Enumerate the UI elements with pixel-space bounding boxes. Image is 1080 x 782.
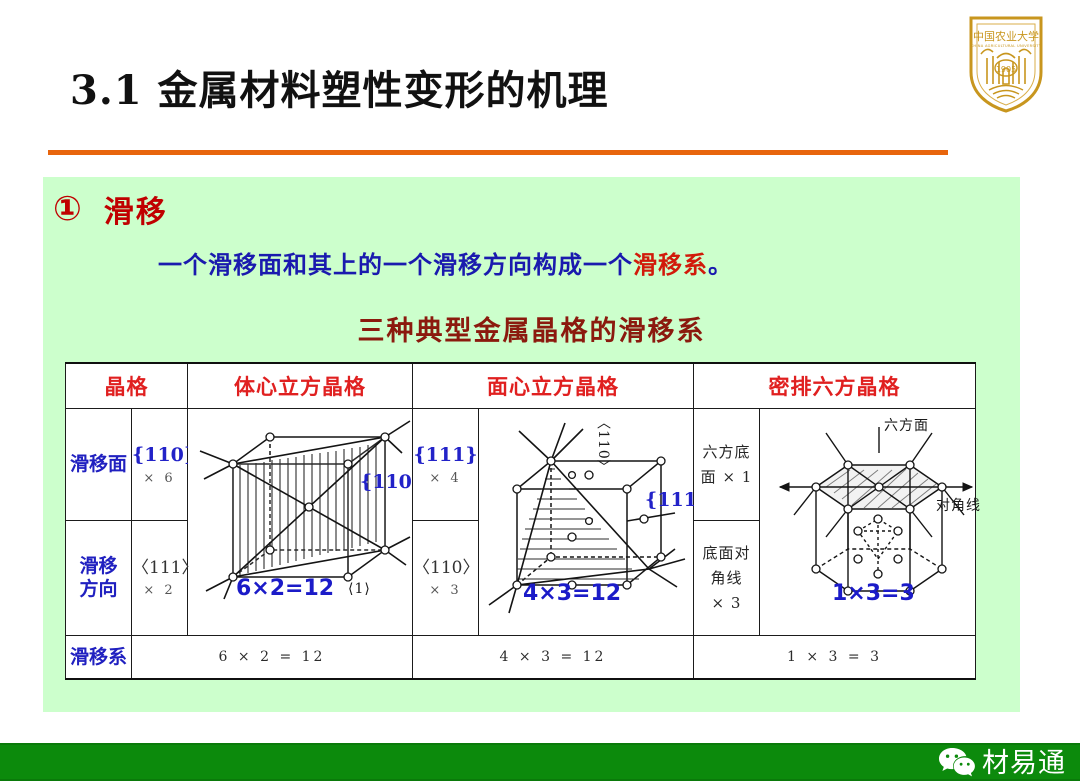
bcc-product: 6×2=12 (236, 576, 334, 601)
fcc-diagram: 〈110〉 {111} 4×3=12 (479, 409, 693, 636)
table-row-slip-plane: 滑移面 {110} × 6 (66, 408, 976, 521)
hcp-summary: 1 × 3 = 3 (694, 636, 976, 679)
svg-text:1905: 1905 (996, 65, 1016, 74)
slide-root: 3.1 金属材料塑性变形的机理 中国农业大学 CHINA AGRICULTURA… (0, 0, 1080, 781)
brand-text: 材易通 (982, 750, 1066, 777)
footer-top-edge (0, 743, 1080, 745)
rowhead-slip-system: 滑移系 (66, 636, 132, 679)
fcc-direction-mult: × 3 (413, 581, 478, 601)
fcc-plane-mult: × 4 (413, 469, 478, 489)
title-divider (48, 150, 948, 155)
table-header-row: 晶格 体心立方晶格 面心立方晶格 密排六方晶格 (66, 363, 976, 408)
wechat-icon (938, 745, 976, 782)
svg-text:CHINA AGRICULTURAL UNIVERSITY: CHINA AGRICULTURAL UNIVERSITY (971, 44, 1042, 48)
fcc-plane-index: {111} (413, 441, 478, 470)
sentence-highlight: 滑移系 (633, 250, 708, 279)
rowhead-slip-plane: 滑移面 (66, 408, 132, 521)
bcc-diagram-cell: {110} 6×2=12 ⟨1⟩ (188, 408, 413, 636)
hcp-plane-line2: 面 × 1 (694, 465, 759, 490)
content-panel: ① 滑移 一个滑移面和其上的一个滑移方向构成一个滑移系。 三种典型金属晶格的滑移… (43, 177, 1020, 712)
hcp-plane-line1: 六方底 (694, 440, 759, 465)
bullet-label: 滑移 (104, 187, 168, 231)
bcc-diagram: {110} 6×2=12 ⟨1⟩ (188, 409, 412, 636)
page-title: 3.1 金属材料塑性变形的机理 (70, 58, 609, 116)
table-row-slip-system: 滑移系 6 × 2 = 12 4 × 3 = 12 1 × 3 = 3 (66, 636, 976, 679)
hcp-direction-label: 对角线 (936, 495, 981, 515)
bcc-plane-index: {110} (132, 441, 187, 470)
hcp-direction-line2: 角线 (694, 566, 759, 591)
sentence-part-1: 一个滑移面和其上的一个滑移方向构成一个 (158, 250, 633, 279)
fcc-summary: 4 × 3 = 12 (413, 636, 694, 679)
rowhead-slip-direction-line1: 滑移 (66, 555, 131, 578)
rowhead-slip-direction: 滑移 方向 (66, 521, 132, 636)
fcc-product: 4×3=12 (523, 581, 621, 606)
hcp-direction-line3: × 3 (694, 591, 759, 616)
hcp-direction-line1: 底面对 (694, 541, 759, 566)
bcc-direction-index: 〈111〉 (132, 556, 187, 582)
footer-bar: 材易通 (0, 743, 1080, 781)
sentence-part-3: 。 (708, 250, 733, 279)
fcc-plane-index-cell: {111} × 4 (413, 408, 479, 521)
hcp-diagram: 六方面 对角线 1×3=3 (760, 409, 975, 636)
bullet-number: ① (53, 192, 82, 226)
fcc-direction-index: 〈110〉 (413, 556, 478, 582)
bcc-direction-mult: × 2 (132, 581, 187, 601)
table-subtitle: 三种典型金属晶格的滑移系 (43, 309, 1020, 348)
fcc-direction-index-cell: 〈110〉 × 3 (413, 521, 479, 636)
hcp-plane-label: 六方面 (884, 415, 929, 435)
bcc-plane-index-cell: {110} × 6 (132, 408, 188, 521)
svg-text:中国农业大学: 中国农业大学 (973, 29, 1039, 43)
hcp-direction-text-cell: 底面对 角线 × 3 (694, 521, 760, 636)
bcc-direction-index-cell: 〈111〉 × 2 (132, 521, 188, 636)
bcc-direction-label: ⟨1⟩ (348, 581, 371, 597)
hcp-plane-text-cell: 六方底 面 × 1 (694, 408, 760, 521)
rowhead-slip-direction-line2: 方向 (66, 578, 131, 601)
university-logo: 中国农业大学 CHINA AGRICULTURAL UNIVERSITY 190… (967, 14, 1045, 114)
section-bullet: ① 滑移 (53, 187, 168, 231)
hcp-product: 1×3=3 (832, 581, 915, 606)
fcc-diagram-cell: 〈110〉 {111} 4×3=12 (479, 408, 694, 636)
hcp-diagram-cell: 六方面 对角线 1×3=3 (760, 408, 976, 636)
fcc-direction-label: 〈110〉 (593, 415, 613, 475)
header-bcc: 体心立方晶格 (188, 363, 413, 408)
slip-systems-table: 晶格 体心立方晶格 面心立方晶格 密排六方晶格 滑移面 {110} × 6 (65, 362, 975, 680)
header-fcc: 面心立方晶格 (413, 363, 694, 408)
bcc-summary: 6 × 2 = 12 (132, 636, 413, 679)
header-lattice: 晶格 (66, 363, 188, 408)
header-hcp: 密排六方晶格 (694, 363, 976, 408)
footer-brand: 材易通 (938, 745, 1066, 782)
definition-sentence: 一个滑移面和其上的一个滑移方向构成一个滑移系。 (158, 245, 733, 280)
bcc-plane-mult: × 6 (132, 469, 187, 489)
